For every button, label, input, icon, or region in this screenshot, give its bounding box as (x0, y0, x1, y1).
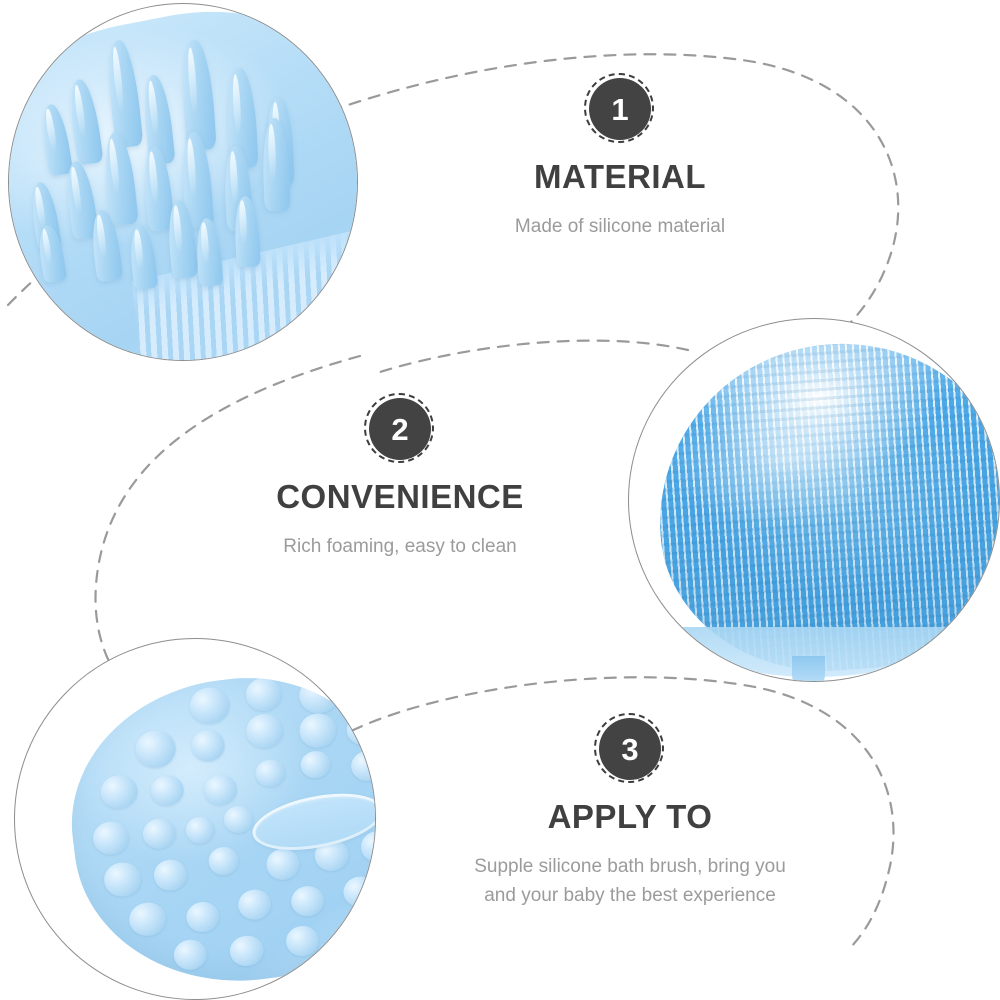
bump (284, 924, 321, 958)
bump (102, 860, 142, 897)
brush-stem (792, 656, 825, 682)
bump (253, 757, 286, 788)
bump (289, 884, 326, 918)
feature-block-1: 1 MATERIAL Made of silicone material (400, 78, 840, 241)
feature-subtitle-1-line-1: Made of silicone material (400, 212, 840, 241)
feature-subtitle-3-line-1: Supple silicone bath brush, bring you (405, 852, 855, 881)
bump (264, 847, 301, 881)
feature-photo-1 (8, 3, 358, 361)
embossed-oval (247, 784, 376, 860)
bump (202, 772, 239, 806)
bump (344, 712, 376, 746)
bump (228, 934, 265, 968)
bump (183, 815, 216, 846)
bump (359, 829, 376, 863)
feature-subtitle-3-line-2: and your baby the best experience (405, 881, 855, 910)
feature-photo-3 (14, 638, 376, 1000)
product-feature-infographic: 1 MATERIAL Made of silicone material 2 C… (0, 0, 1000, 1000)
bump (299, 749, 332, 780)
step-number-badge-2: 2 (369, 398, 431, 460)
step-number-2: 2 (391, 414, 408, 445)
bump (133, 728, 177, 769)
feature-subtitle-2-line-1: Rich foaming, easy to clean (165, 532, 635, 561)
step-number-3: 3 (621, 734, 638, 765)
feature-title-1: MATERIAL (400, 158, 840, 196)
feature-block-3: 3 APPLY TO Supple silicone bath brush, b… (405, 718, 855, 911)
bump (236, 887, 273, 921)
bump (184, 899, 221, 933)
bump (127, 900, 167, 937)
bump (188, 685, 232, 726)
bump (172, 937, 209, 971)
bump (244, 712, 284, 749)
bump (189, 728, 226, 762)
bump (298, 711, 338, 748)
bump (140, 816, 177, 850)
bump (91, 819, 131, 856)
feature-title-2: CONVENIENCE (165, 478, 635, 516)
bump (222, 804, 255, 835)
photo-3-content (15, 639, 375, 999)
bump (207, 845, 240, 876)
bump (341, 874, 376, 908)
massage-pad (55, 660, 376, 1000)
photo-2-content (629, 319, 999, 681)
bump (148, 773, 185, 807)
bump (98, 772, 138, 809)
step-number-badge-1: 1 (589, 78, 651, 140)
bump (152, 858, 189, 892)
feature-title-3: APPLY TO (405, 798, 855, 836)
bump (243, 675, 283, 712)
step-number-1: 1 (611, 94, 628, 125)
bump (296, 675, 340, 716)
bump (349, 748, 376, 782)
step-number-badge-3: 3 (599, 718, 661, 780)
feature-photo-2 (628, 318, 1000, 682)
feature-block-2: 2 CONVENIENCE Rich foaming, easy to clea… (165, 398, 635, 561)
photo-1-content (9, 4, 357, 360)
